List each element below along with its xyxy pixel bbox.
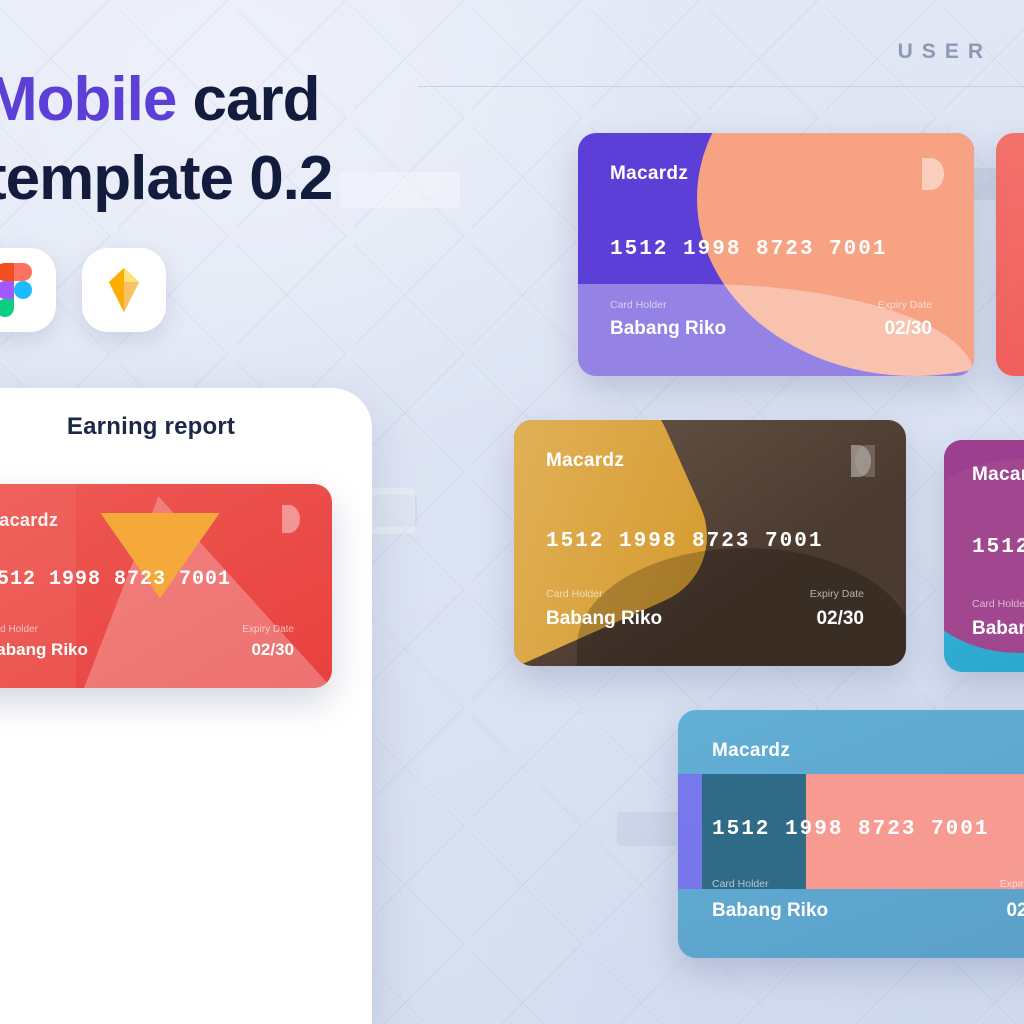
card-holder-label: Card Holder <box>546 588 603 600</box>
divider-line <box>418 86 1024 87</box>
card-holder-value: Babang Riko <box>712 900 828 922</box>
card-holder-value: Babang Riko <box>972 618 1024 640</box>
card-red[interactable] <box>996 133 1024 376</box>
card-teal[interactable]: Macardz 1512 1998 8723 7001 Card Holder … <box>944 440 1024 672</box>
figma-glyph <box>0 263 33 317</box>
card-blue[interactable]: Macardz 1512 1998 8723 7001 Card Holder … <box>678 710 1024 958</box>
card-expiry-value: 02/30 <box>1006 900 1024 922</box>
card-expiry-value: 02/30 <box>884 318 932 340</box>
user-label: USER <box>898 40 992 64</box>
card-logo-icon <box>848 444 878 483</box>
card-accent-band-purple <box>678 774 710 888</box>
card-brand: Macardz <box>0 510 58 531</box>
card-number: 1512 1998 8723 7001 <box>0 568 231 591</box>
card-purple[interactable]: Macardz 1512 1998 8723 7001 Card Holder … <box>578 133 974 376</box>
card-expiry-label: Expiry Date <box>878 299 932 311</box>
card-holder-label: Card Holder <box>712 878 769 890</box>
card-expiry-label: Expiry Date <box>1000 878 1024 890</box>
phone-credit-card[interactable]: Macardz 1512 1998 8723 7001 Card Holder … <box>0 484 332 688</box>
card-holder-label: Card Holder <box>972 598 1024 610</box>
card-expiry-label: Expiry Date <box>810 588 864 600</box>
figma-icon[interactable] <box>0 248 56 332</box>
card-holder-value: Babang Riko <box>546 608 662 630</box>
card-holder-value: Babang Riko <box>610 318 726 340</box>
phone-screen-title: Earning report <box>0 413 372 441</box>
sketch-icon[interactable] <box>82 248 166 332</box>
card-holder-label: Card Holder <box>610 299 667 311</box>
card-brand: Macardz <box>546 450 624 472</box>
card-number: 1512 1998 8723 7001 <box>712 818 989 841</box>
card-logo-icon <box>280 504 304 539</box>
card-brand: Macardz <box>972 464 1024 486</box>
card-holder-label: Card Holder <box>0 624 38 635</box>
card-number: 1512 1998 8723 7001 <box>972 536 1024 559</box>
card-accent-shape <box>996 133 1024 376</box>
phone-mockup: ‹ Earning report Macardz 1512 1998 8723 … <box>0 388 372 1024</box>
card-shadow-shape <box>577 548 906 666</box>
app-icon-list <box>0 248 166 332</box>
sketch-glyph <box>98 266 150 314</box>
headline-accent: Mobile <box>0 65 176 134</box>
card-expiry-value: 02/30 <box>816 608 864 630</box>
card-expiry-value: 02/30 <box>251 640 294 660</box>
phone-header: ‹ Earning report <box>0 388 372 466</box>
card-expiry-label: Expiry Date <box>242 624 294 635</box>
card-brown[interactable]: Macardz 1512 1998 8723 7001 Card Holder … <box>514 420 906 666</box>
card-number: 1512 1998 8723 7001 <box>610 238 887 261</box>
page-title: Mobile card template 0.2 <box>0 60 416 219</box>
card-brand: Macardz <box>712 740 790 762</box>
headline-rest: card <box>176 65 319 134</box>
headline-line2: template 0.2 <box>0 144 332 213</box>
card-holder-value: Babang Riko <box>0 640 88 660</box>
card-brand: Macardz <box>610 163 688 185</box>
card-logo-icon <box>920 157 948 196</box>
card-number: 1512 1998 8723 7001 <box>546 530 823 553</box>
